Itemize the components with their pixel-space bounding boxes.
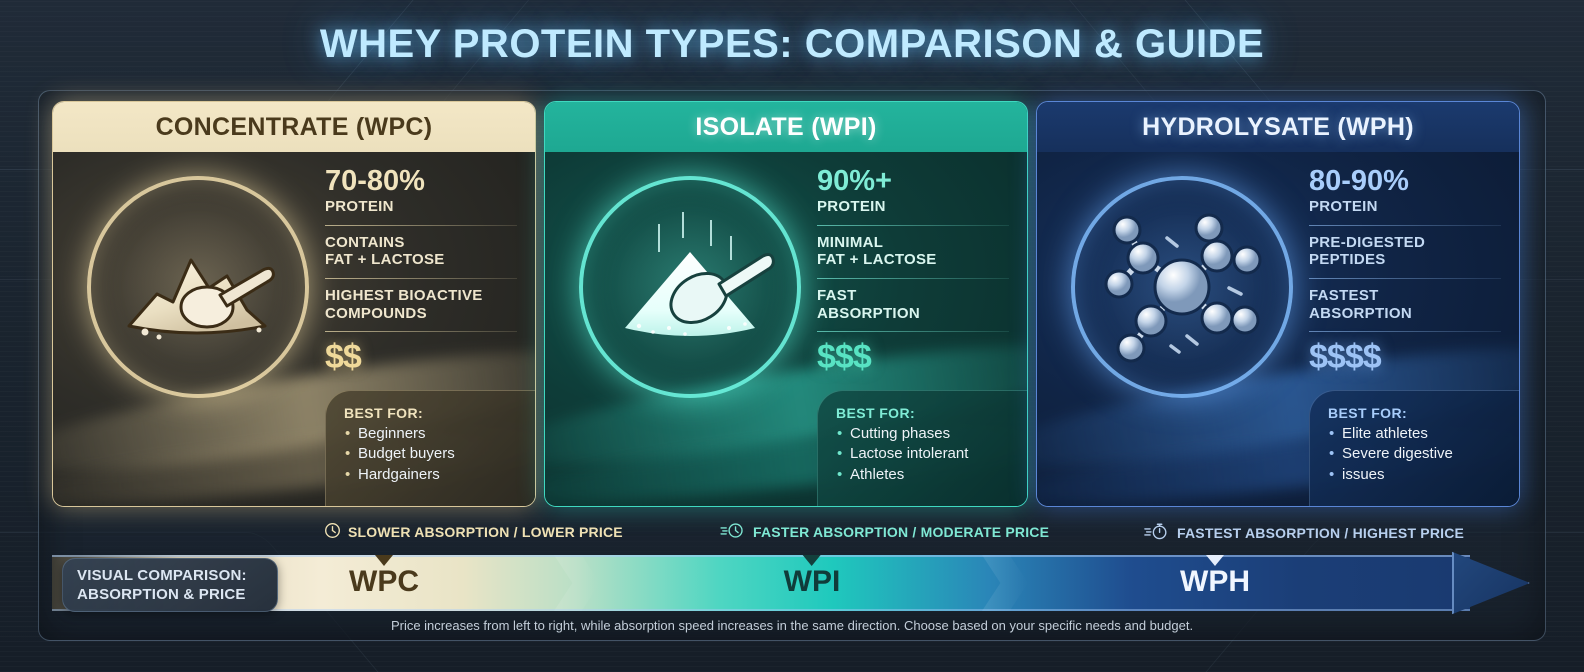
feature-1-line2: PEPTIDES (1309, 251, 1501, 269)
list-item: Cutting phases (836, 424, 1013, 444)
protein-percent: 90%+ (817, 166, 1009, 196)
feature-2-line1: HIGHEST BIOACTIVE (325, 287, 517, 305)
divider (817, 331, 1009, 332)
divider (817, 225, 1009, 226)
feature-2-line1: FAST (817, 287, 1009, 305)
page-title: WHEY PROTEIN TYPES: COMPARISON & GUIDE (0, 22, 1584, 67)
scale-tick-fastest: FASTEST ABSORPTION / HIGHEST PRICE (1144, 522, 1464, 544)
price-indicator: $$$ (817, 340, 1009, 374)
protein-label: PROTEIN (817, 198, 1009, 215)
feature-2-line2: ABSORPTION (817, 305, 1009, 323)
protein-percent: 70-80% (325, 166, 517, 196)
list-item: Elite athletes (1328, 424, 1505, 444)
specs-hydrolysate: 80-90% PROTEIN PRE-DIGESTED PEPTIDES FAS… (1309, 166, 1501, 374)
scale-tick-slower: SLOWER ABSORPTION / LOWER PRICE (324, 522, 623, 542)
feature-2-line2: COMPOUNDS (325, 305, 517, 323)
list-item: Beginners (344, 424, 521, 444)
comparison-scale: SLOWER ABSORPTION / LOWER PRICE FASTER A… (52, 522, 1532, 630)
scale-tick-faster: FASTER ABSORPTION / MODERATE PRICE (720, 522, 1049, 542)
protein-label: PROTEIN (325, 198, 517, 215)
clock-speed-icon (720, 522, 746, 542)
card-header-concentrate: CONCENTRATE (WPC) (53, 102, 535, 152)
list-item: Hardgainers (344, 465, 521, 485)
divider (817, 278, 1009, 279)
visual-comparison-line1: VISUAL COMPARISON: (77, 566, 277, 586)
visual-comparison-label: VISUAL COMPARISON: ABSORPTION & PRICE (62, 558, 278, 612)
feature-1-line2: FAT + LACTOSE (817, 251, 1009, 269)
footnote: Price increases from left to right, whil… (52, 618, 1532, 633)
specs-isolate: 90%+ PROTEIN MINIMAL FAT + LACTOSE FAST … (817, 166, 1009, 374)
divider (325, 278, 517, 279)
best-for-label: BEST FOR: (344, 405, 521, 421)
best-for-label: BEST FOR: (1328, 405, 1505, 421)
scale-tick-label: FASTER ABSORPTION / MODERATE PRICE (753, 524, 1049, 540)
sparkling-powder-spoon-icon (579, 176, 801, 398)
list-item: Athletes (836, 465, 1013, 485)
best-for-list: Beginners Budget buyers Hardgainers (344, 424, 521, 485)
price-indicator: $$ (325, 340, 517, 374)
specs-concentrate: 70-80% PROTEIN CONTAINS FAT + LACTOSE HI… (325, 166, 517, 374)
arrow-marker-label: WPH (1180, 567, 1250, 597)
protein-label: PROTEIN (1309, 198, 1501, 215)
molecule-peptide-icon (1071, 176, 1293, 398)
card-body-hydrolysate: 80-90% PROTEIN PRE-DIGESTED PEPTIDES FAS… (1037, 152, 1519, 506)
card-hydrolysate[interactable]: HYDROLYSATE (WPH) (1036, 101, 1520, 507)
feature-2-line2: ABSORPTION (1309, 305, 1501, 323)
card-header-isolate: ISOLATE (WPI) (545, 102, 1027, 152)
feature-1-line1: CONTAINS (325, 234, 517, 252)
divider (1309, 278, 1501, 279)
price-indicator: $$$$ (1309, 340, 1501, 374)
protein-percent: 80-90% (1309, 166, 1501, 196)
arrow-marker-wph: WPH (1180, 555, 1250, 597)
list-item: Severe digestive (1328, 444, 1505, 464)
divider (1309, 331, 1501, 332)
scale-tick-label: SLOWER ABSORPTION / LOWER PRICE (348, 524, 623, 540)
card-body-isolate: 90%+ PROTEIN MINIMAL FAT + LACTOSE FAST … (545, 152, 1027, 506)
protein-powder-scoop-icon (87, 176, 309, 398)
clock-icon (324, 522, 341, 542)
best-for-list: Cutting phases Lactose intolerant Athlet… (836, 424, 1013, 485)
feature-1-line2: FAT + LACTOSE (325, 251, 517, 269)
arrow-marker-wpc: WPC (349, 555, 419, 597)
list-item-continuation: issues (1328, 465, 1505, 485)
best-for-panel-concentrate: BEST FOR: Beginners Budget buyers Hardga… (325, 390, 535, 506)
arrow-marker-wpi: WPI (784, 555, 841, 597)
visual-comparison-line2: ABSORPTION & PRICE (77, 585, 277, 605)
scale-tick-label: FASTEST ABSORPTION / HIGHEST PRICE (1177, 525, 1464, 541)
divider (1309, 225, 1501, 226)
divider (325, 331, 517, 332)
divider (325, 225, 517, 226)
list-item: Lactose intolerant (836, 444, 1013, 464)
feature-2-line1: FASTEST (1309, 287, 1501, 305)
list-item: Budget buyers (344, 444, 521, 464)
feature-1-line1: MINIMAL (817, 234, 1009, 252)
best-for-label: BEST FOR: (836, 405, 1013, 421)
arrow-marker-label: WPI (784, 567, 841, 597)
arrow-marker-label: WPC (349, 567, 419, 597)
best-for-panel-isolate: BEST FOR: Cutting phases Lactose intoler… (817, 390, 1027, 506)
card-isolate[interactable]: ISOLATE (WPI) (544, 101, 1028, 507)
feature-1-line1: PRE-DIGESTED (1309, 234, 1501, 252)
scale-tick-labels: SLOWER ABSORPTION / LOWER PRICE FASTER A… (52, 522, 1532, 548)
best-for-panel-hydrolysate: BEST FOR: Elite athletes Severe digestiv… (1309, 390, 1519, 506)
card-body-concentrate: 70-80% PROTEIN CONTAINS FAT + LACTOSE HI… (53, 152, 535, 506)
card-concentrate[interactable]: CONCENTRATE (WPC) (52, 101, 536, 507)
card-header-hydrolysate: HYDROLYSATE (WPH) (1037, 102, 1519, 152)
best-for-list: Elite athletes Severe digestive issues (1328, 424, 1505, 485)
comparison-cards: CONCENTRATE (WPC) (52, 101, 1532, 507)
stopwatch-speed-icon (1144, 522, 1170, 544)
